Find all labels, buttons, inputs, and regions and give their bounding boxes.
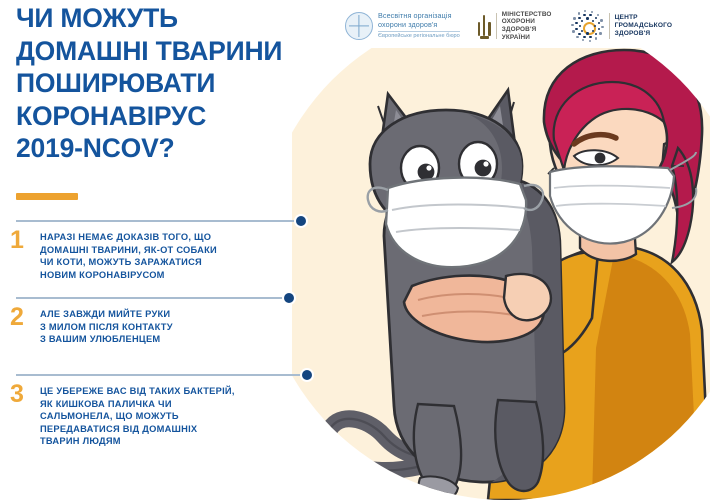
list-item-3-line-4: ПЕРЕДАВАТИСЯ ВІД ДОМАШНІХ (40, 423, 290, 436)
list-item-1-line-3: ЧИ КОТИ, МОЖУТЬ ЗАРАЖАТИСЯ (40, 256, 290, 269)
title-line-5: 2019-NCOV? (16, 132, 346, 165)
phc-line-1: ЦЕНТР (615, 14, 673, 22)
logo-who-europe: Всесвітня організація охорони здоров'я Є… (345, 12, 460, 40)
list-item-2-line-1: АЛЕ ЗАВЖДИ МИЙТЕ РУКИ (40, 308, 290, 321)
infographic-poster: Всесвітня організація охорони здоров'я Є… (0, 0, 710, 500)
phc-line-2: ГРОМАДСЬКОГО (615, 22, 673, 30)
list-item-3-text: ЦЕ УБЕРЕЖЕ ВАС ВІД ТАКИХ БАКТЕРІЙ, ЯК КИ… (40, 385, 290, 448)
ministry-line-1: МІНІСТЕРСТВО (502, 11, 552, 19)
list-item-2-line-2: З МИЛОМ ПІСЛЯ КОНТАКТУ (40, 321, 290, 334)
list-item-2-endpoint (282, 291, 296, 305)
ministry-divider (496, 13, 497, 39)
list-item-2-rule (16, 297, 288, 299)
illustration-person-holding-masked-cat (292, 48, 710, 500)
list-item-1-line-1: НАРАЗІ НЕМАЄ ДОКАЗІВ ТОГО, ЩО (40, 231, 290, 244)
list-item-3-line-3: САЛЬМОНЕЛА, ЩО МОЖУТЬ (40, 410, 290, 423)
list-item-3-line-1: ЦЕ УБЕРЕЖЕ ВАС ВІД ТАКИХ БАКТЕРІЙ, (40, 385, 290, 398)
logo-bar: Всесвітня організація охорони здоров'я Є… (345, 4, 705, 48)
who-divider (378, 31, 460, 32)
list-item-3-line-2: ЯК КИШКОВА ПАЛИЧКА ЧИ (40, 398, 290, 411)
ministry-line-2: ОХОРОНИ (502, 18, 552, 26)
title-line-1: ЧИ МОЖУТЬ (16, 2, 346, 35)
list-item-2-text: АЛЕ ЗАВЖДИ МИЙТЕ РУКИ З МИЛОМ ПІСЛЯ КОНТ… (40, 308, 290, 346)
list-item-1-line-2: ДОМАШНІ ТВАРИНИ, ЯК-ОТ СОБАКИ (40, 244, 290, 257)
who-line-2: охорони здоров'я (378, 21, 460, 30)
who-logo-text: Всесвітня організація охорони здоров'я Є… (378, 12, 460, 40)
who-globe-icon (345, 12, 373, 40)
title-accent-bar (16, 193, 78, 200)
phc-line-3: ЗДОРОВ'Я (615, 30, 673, 38)
phc-logo-text: ЦЕНТР ГРОМАДСЬКОГО ЗДОРОВ'Я (615, 14, 673, 38)
ministry-logo-text: МІНІСТЕРСТВО ОХОРОНИ ЗДОРОВ'Я УКРАЇНИ (502, 11, 552, 41)
logo-ministry-of-health: МІНІСТЕРСТВО ОХОРОНИ ЗДОРОВ'Я УКРАЇНИ (478, 11, 552, 41)
title-line-2: ДОМАШНІ ТВАРИНИ (16, 35, 346, 68)
list-item-3-endpoint (300, 368, 314, 382)
page-title: ЧИ МОЖУТЬ ДОМАШНІ ТВАРИНИ ПОШИРЮВАТИ КОР… (16, 2, 346, 165)
list-item-2-number: 2 (10, 305, 24, 330)
list-item-3-number: 3 (10, 382, 24, 407)
ukraine-trident-icon (478, 13, 491, 39)
list-item-3-rule (16, 374, 306, 376)
title-line-4: КОРОНАВІРУС (16, 100, 346, 133)
phc-divider (609, 13, 610, 39)
sun-radial-icon (572, 10, 604, 42)
title-line-3: ПОШИРЮВАТИ (16, 67, 346, 100)
who-line-3: Європейське регіональне бюро (378, 33, 460, 40)
list-item-3-line-5: ТВАРИН ЛЮДЯМ (40, 435, 290, 448)
list-item-1-number: 1 (10, 228, 24, 253)
logo-public-health-center: ЦЕНТР ГРОМАДСЬКОГО ЗДОРОВ'Я (572, 10, 673, 42)
list-item-1-endpoint (294, 214, 308, 228)
ministry-line-3: ЗДОРОВ'Я (502, 26, 552, 34)
list-item-2-line-3: З ВАШИМ УЛЮБЛЕНЦЕМ (40, 333, 290, 346)
list-item-1-line-4: НОВИМ КОРОНАВІРУСОМ (40, 269, 290, 282)
list-item-1-text: НАРАЗІ НЕМАЄ ДОКАЗІВ ТОГО, ЩО ДОМАШНІ ТВ… (40, 231, 290, 281)
list-item-1-rule (16, 220, 300, 222)
ministry-line-4: УКРАЇНИ (502, 34, 552, 42)
